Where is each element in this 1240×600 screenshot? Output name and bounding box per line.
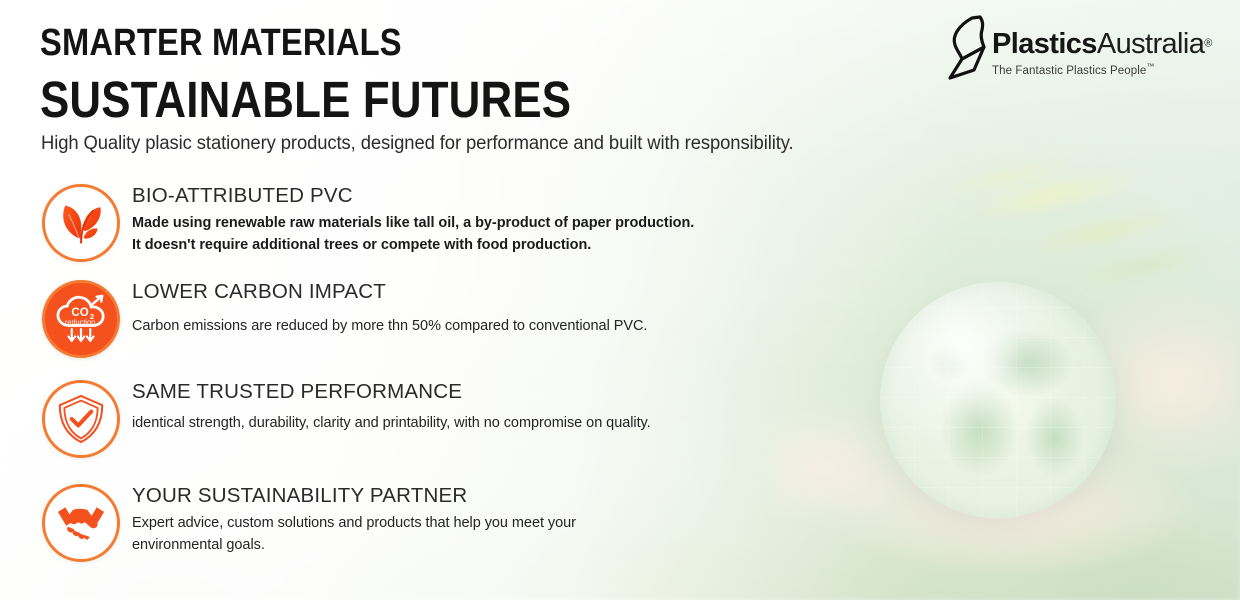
trademark-icon: ™ [1146, 62, 1154, 71]
feature-body-line: Carbon emissions are reduced by more thn… [132, 315, 647, 337]
headline-line-2: SUSTAINABLE FUTURES [40, 74, 571, 125]
feature-body-line: Made using renewable raw materials like … [132, 212, 694, 234]
headline-block: SMARTER MATERIALS SUSTAINABLE FUTURES [40, 24, 658, 125]
leaf-sprout-icon [42, 184, 120, 262]
registered-trademark-icon: ® [1204, 38, 1212, 50]
feature-title: BIO-ATTRIBUTED PVC [132, 184, 694, 208]
logo-name-light: Australia [1097, 28, 1204, 60]
feature-body: Carbon emissions are reduced by more thn… [132, 315, 647, 337]
brand-logo[interactable]: PlasticsAustralia® The Fantastic Plastic… [938, 14, 1198, 86]
feature-title: SAME TRUSTED PERFORMANCE [132, 380, 651, 404]
feature-text-your-sustainability-partner: YOUR SUSTAINABILITY PARTNER Expert advic… [132, 484, 576, 557]
handshake-icon [42, 484, 120, 562]
feature-body-line: identical strength, durability, clarity … [132, 412, 651, 434]
feature-title: LOWER CARBON IMPACT [132, 280, 647, 304]
feature-text-same-trusted-performance: SAME TRUSTED PERFORMANCE identical stren… [132, 380, 651, 434]
feature-text-bio-attributed-pvc: BIO-ATTRIBUTED PVC Made using renewable … [132, 184, 694, 257]
logo-tagline: The Fantastic Plastics People [992, 65, 1146, 77]
feature-body-line: It doesn't require additional trees or c… [132, 234, 694, 256]
marketing-banner: SMARTER MATERIALS SUSTAINABLE FUTURES Hi… [0, 0, 1240, 600]
svg-text:reduction: reduction [65, 318, 95, 327]
shield-check-icon [42, 380, 120, 458]
logo-name-bold: Plastics [992, 28, 1097, 60]
feature-body: identical strength, durability, clarity … [132, 412, 651, 434]
co2-reduction-cloud-icon: CO 2 reduction [42, 280, 120, 358]
feature-title: YOUR SUSTAINABILITY PARTNER [132, 484, 576, 508]
feature-body: Made using renewable raw materials like … [132, 212, 694, 257]
feature-text-lower-carbon-impact: LOWER CARBON IMPACT Carbon emissions are… [132, 280, 647, 337]
subheadline: High Quality plasic stationery products,… [41, 133, 794, 155]
logo-wordmark: PlasticsAustralia® The Fantastic Plastic… [992, 30, 1212, 77]
feature-body-line: environmental goals. [132, 534, 576, 556]
feature-body: Expert advice, custom solutions and prod… [132, 512, 576, 557]
headline-line-1: SMARTER MATERIALS [40, 24, 571, 62]
feature-body-line: Expert advice, custom solutions and prod… [132, 512, 576, 534]
